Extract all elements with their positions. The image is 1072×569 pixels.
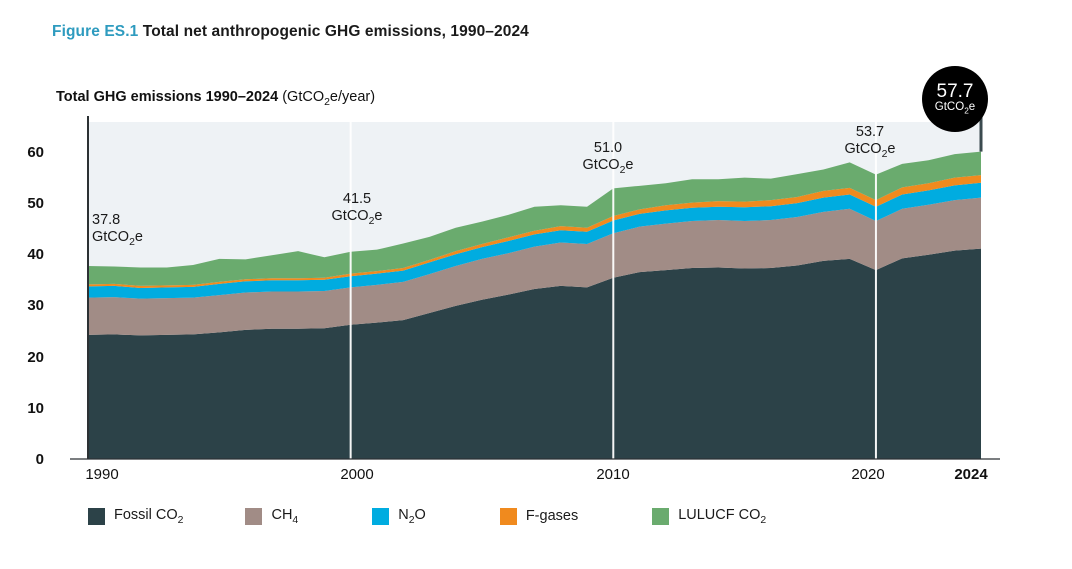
legend-item-n2o[interactable]: N2O [372, 507, 426, 526]
x-tick-label-2000: 2000 [340, 466, 373, 483]
legend-label: LULUCF CO2 [678, 507, 766, 526]
legend-swatch-icon [88, 508, 105, 525]
final-value-badge: 57.7 GtCO2e [922, 66, 988, 132]
x-tick-label-2010: 2010 [596, 466, 629, 483]
legend-label: Fossil CO2 [114, 507, 183, 526]
final-value: 57.7 [937, 82, 974, 102]
legend-swatch-icon [372, 508, 389, 525]
legend-item-lulucf-co2[interactable]: LULUCF CO2 [652, 507, 766, 526]
legend-swatch-icon [500, 508, 517, 525]
final-value-unit: GtCO2e [935, 101, 975, 116]
legend-item-ch4[interactable]: CH4 [245, 507, 298, 526]
legend-item-f-gases[interactable]: F-gases [500, 508, 578, 525]
x-tick-label-1990: 1990 [85, 466, 118, 483]
x-tick-label-2024: 2024 [954, 466, 987, 483]
chart-legend: Fossil CO2 CH4 N2O F-gases LULUCF CO2 [88, 507, 802, 526]
legend-label: F-gases [526, 508, 578, 524]
y-tick-label: 30 [4, 297, 44, 314]
stacked-area-chart: 60 50 40 30 20 10 0 1990 2000 2010 2020 … [0, 0, 1072, 569]
y-tick-label: 20 [4, 349, 44, 366]
legend-item-fossil-co2[interactable]: Fossil CO2 [88, 507, 183, 526]
y-tick-label: 50 [4, 195, 44, 212]
y-tick-label: 60 [4, 144, 44, 161]
legend-label: N2O [398, 507, 426, 526]
y-tick-label: 0 [4, 451, 44, 468]
legend-swatch-icon [245, 508, 262, 525]
y-tick-label: 10 [4, 400, 44, 417]
x-tick-label-2020: 2020 [851, 466, 884, 483]
chart-canvas [0, 0, 1072, 569]
y-tick-label: 40 [4, 246, 44, 263]
legend-label: CH4 [271, 507, 298, 526]
legend-swatch-icon [652, 508, 669, 525]
